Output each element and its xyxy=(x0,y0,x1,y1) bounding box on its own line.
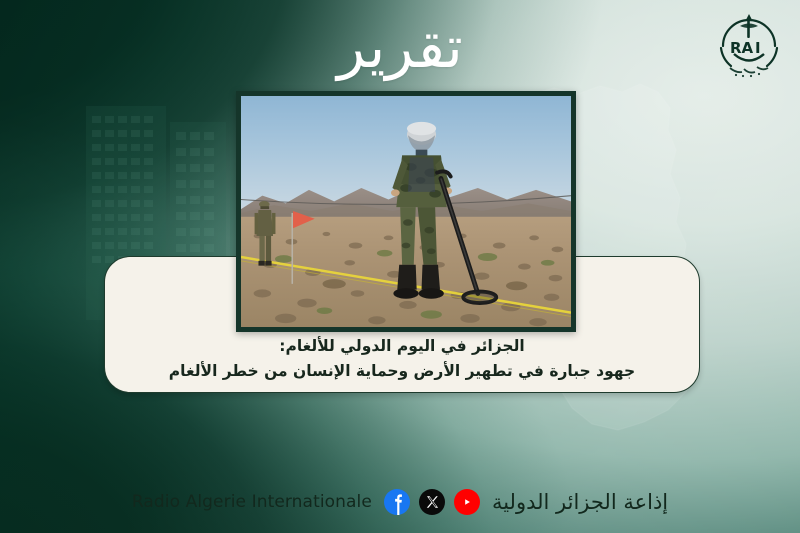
footer-latin-name: Radio Algerie Internationale xyxy=(132,492,372,512)
facebook-icon[interactable] xyxy=(384,489,410,515)
caption-text-block: الجزائر في اليوم الدولي للألغام: جهود جب… xyxy=(105,334,699,384)
caption-line-2: جهود جبارة في تطهير الأرض وحماية الإنسان… xyxy=(121,359,683,384)
youtube-icon[interactable] xyxy=(454,489,480,515)
caption-line-1: الجزائر في اليوم الدولي للألغام: xyxy=(121,334,683,359)
social-links xyxy=(384,489,480,515)
news-photo[interactable] xyxy=(236,91,576,332)
footer-arabic-name: إذاعة الجزائر الدولية xyxy=(492,490,668,514)
page-title: تقرير xyxy=(0,14,800,81)
footer-bar: Radio Algerie Internationale xyxy=(0,471,800,533)
x-twitter-icon[interactable] xyxy=(419,489,445,515)
news-photo-image xyxy=(241,96,571,327)
svg-text:I: I xyxy=(755,39,761,57)
report-card: تقرير R A I xyxy=(0,0,800,533)
svg-text:A: A xyxy=(742,39,754,57)
rai-logo-icon[interactable]: R A I xyxy=(710,6,788,86)
